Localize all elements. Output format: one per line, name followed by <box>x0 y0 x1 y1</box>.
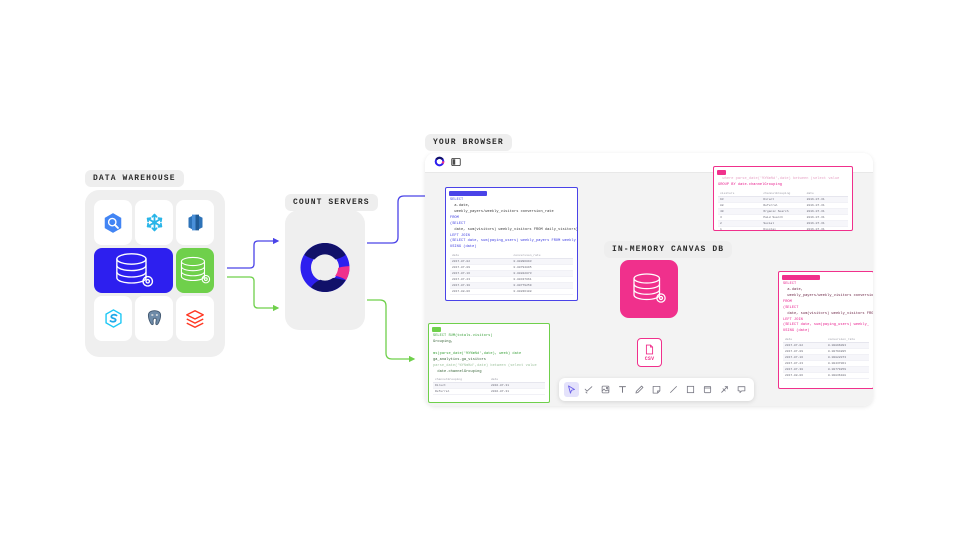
snowflake-icon[interactable] <box>135 200 173 245</box>
sql-code-green[interactable]: SELECT SUM(totals.visitors)Grouping, ms(… <box>429 334 549 375</box>
count-logo-icon[interactable] <box>434 154 445 172</box>
frame-tool[interactable] <box>700 382 715 397</box>
square-tool[interactable] <box>683 382 698 397</box>
table-cell: 2017-08-06 <box>783 373 826 379</box>
code-line: USING (date) <box>450 245 573 251</box>
sidebar-toggle-icon[interactable] <box>451 154 461 172</box>
sql-code-pink-top[interactable]: where parse_date('%Y%m%d',date) between … <box>714 177 852 189</box>
cell-tag <box>717 170 726 175</box>
cell-tag <box>782 275 820 280</box>
label-in-memory-canvas-db: IN-MEMORY CANVAS DB <box>604 241 732 258</box>
connector-tool[interactable] <box>717 382 732 397</box>
notebook-cell-pink-top[interactable]: where parse_date('%Y%m%d',date) between … <box>713 166 853 231</box>
cell-tag <box>432 327 441 332</box>
synapse-icon[interactable] <box>94 296 132 341</box>
table-cell: 2017-08-06 <box>450 289 512 295</box>
code-line: date, sum(visitors) weekly_visitors FROM… <box>450 228 573 234</box>
table-cell: Display <box>761 226 804 231</box>
table-cell: 0.00836108 <box>512 289 574 295</box>
sql-code-blue[interactable]: SELECT a.date, weekly_payers/weekly_visi… <box>446 198 577 251</box>
database-blue-icon[interactable] <box>94 248 173 293</box>
code-line: parse_date('%Y%m%d',date) between (selec… <box>433 364 545 370</box>
label-count-servers: COUNT SERVERS <box>285 194 378 211</box>
cursor-tool[interactable] <box>564 382 579 397</box>
sql-code-pink-bottom[interactable]: SELECT a.date, weekly_payers/weekly_visi… <box>779 282 873 335</box>
text-tool[interactable] <box>615 382 630 397</box>
cell-tag <box>449 191 487 196</box>
csv-file[interactable]: CSV <box>637 338 662 367</box>
data-warehouse-panel <box>85 190 225 357</box>
result-table-green: channelGroupingdateDirect2016-07-31Refer… <box>433 377 545 395</box>
lasso-tool[interactable] <box>581 382 596 397</box>
table-row: Referral2016-07-31 <box>433 389 545 395</box>
database-green-icon[interactable] <box>176 248 214 293</box>
notebook-cell-blue[interactable]: SELECT a.date, weekly_payers/weekly_visi… <box>445 187 578 301</box>
code-line: USING (date) <box>783 329 869 335</box>
bigquery-icon[interactable] <box>94 200 132 245</box>
line-tool[interactable] <box>666 382 681 397</box>
result-table-blue: dateconversion_rate2017-07-020.008960932… <box>450 253 573 295</box>
csv-file-icon <box>644 344 655 355</box>
databricks-icon[interactable] <box>176 296 214 341</box>
redshift-icon[interactable] <box>176 200 214 245</box>
table-cell: 2016-07-31 <box>805 226 848 231</box>
postgresql-icon[interactable] <box>135 296 173 341</box>
table-cell: 1 <box>718 226 761 231</box>
table-row: 2017-08-060.00836108 <box>783 373 869 379</box>
code-line: date.channelGrouping <box>433 370 545 376</box>
table-cell: 2016-07-31 <box>489 389 545 395</box>
count-servers-panel <box>285 210 365 330</box>
table-cell: Referral <box>433 389 489 395</box>
notebook-cell-pink-bottom[interactable]: SELECT a.date, weekly_payers/weekly_visi… <box>778 271 873 389</box>
canvas-toolbar[interactable] <box>559 378 754 401</box>
code-line: GROUP BY date.channelGrouping <box>718 183 848 189</box>
table-cell: 0.00836108 <box>826 373 869 379</box>
in-memory-canvas-db <box>620 260 678 318</box>
csv-label: CSV <box>645 356 655 362</box>
count-logo-icon <box>297 240 353 301</box>
comment-tool[interactable] <box>734 382 749 397</box>
result-table-pink-bottom: dateconversion_rate2017-07-020.008960932… <box>783 337 869 379</box>
code-line: weekly_payers/weekly_visitors conversion… <box>783 294 869 300</box>
label-your-browser: YOUR BROWSER <box>425 134 512 151</box>
result-table-pink-top: visitorschannelGroupingdate93Direct2016-… <box>718 191 848 231</box>
table-row: 2017-08-060.00836108 <box>450 289 573 295</box>
code-line: date, sum(visitors) weekly_visitors FROM <box>783 312 869 318</box>
table-row: 1Display2016-07-31 <box>718 226 848 231</box>
pencil-tool[interactable] <box>632 382 647 397</box>
image-tool[interactable] <box>598 382 613 397</box>
label-data-warehouse: DATA WAREHOUSE <box>85 170 184 187</box>
sticky-note-tool[interactable] <box>649 382 664 397</box>
notebook-cell-green[interactable]: SELECT SUM(totals.visitors)Grouping, ms(… <box>428 323 550 403</box>
diagram-canvas: DATA WAREHOUSE <box>0 0 960 540</box>
database-gear-icon <box>628 270 670 308</box>
